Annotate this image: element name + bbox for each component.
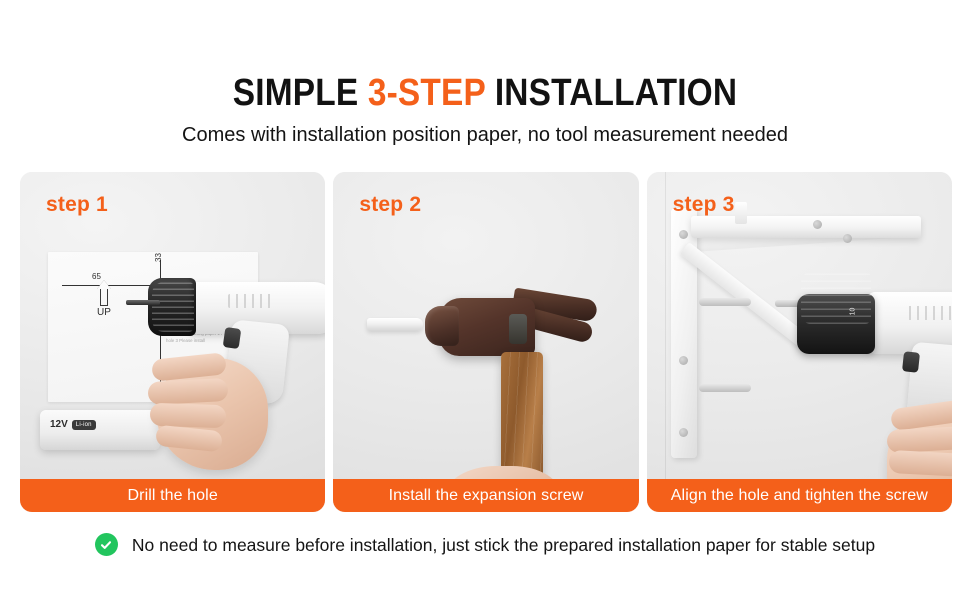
- wall-corner-edge: [665, 172, 666, 512]
- hand-holding-drill: [146, 340, 296, 490]
- step-3-caption: Align the hole and tighten the screw: [647, 479, 952, 512]
- title-accent: 3-STEP: [368, 72, 486, 114]
- step-3-photo: 10: [647, 172, 952, 512]
- hand-finger: [150, 403, 227, 429]
- step-3-label: step 3: [673, 193, 735, 217]
- hammer-face: [425, 306, 459, 346]
- bracket-top-arm: [691, 216, 921, 238]
- step-card-2: step 2 Install the expansion screw: [333, 172, 638, 512]
- paper-up-label: UP: [97, 307, 111, 318]
- step-2-photo: [333, 172, 638, 512]
- step-1-label: step 1: [46, 193, 108, 217]
- expansion-screw: [367, 318, 423, 331]
- hammer-collar: [509, 314, 527, 344]
- hand-finger: [147, 378, 228, 405]
- title-part-1: SIMPLE: [233, 72, 368, 114]
- page-subtitle: Comes with installation position paper, …: [0, 123, 970, 147]
- step-1-caption: Drill the hole: [20, 479, 325, 512]
- bracket-bolt: [679, 230, 688, 239]
- paper-dim-65: 65: [92, 272, 101, 281]
- step-2-caption: Install the expansion screw: [333, 479, 638, 512]
- bracket-bolt: [679, 428, 688, 437]
- battery-voltage: 12V: [50, 419, 68, 430]
- bracket-peg: [699, 298, 751, 306]
- battery-chemistry: Li-ion: [72, 420, 96, 430]
- bracket-bolt: [813, 220, 822, 229]
- step-card-1: 65 33 75 32 UP Please pre-paste the posi…: [20, 172, 325, 512]
- drill-battery: 12V Li-ion: [40, 410, 160, 450]
- bracket-peg: [699, 384, 751, 392]
- drill-vents: [228, 294, 274, 308]
- footer-note: No need to measure before installation, …: [0, 533, 970, 556]
- page-title: SIMPLE 3-STEP INSTALLATION: [58, 72, 912, 114]
- step-1-photo: 65 33 75 32 UP Please pre-paste the posi…: [20, 172, 325, 512]
- check-circle-icon: [95, 533, 118, 556]
- bracket-hook: [735, 202, 747, 224]
- footer-text: No need to measure before installation, …: [132, 534, 875, 556]
- installation-infographic: SIMPLE 3-STEP INSTALLATION Comes with in…: [0, 0, 970, 600]
- step-card-3: 10 step 3 Align the hole and tighten the…: [647, 172, 952, 512]
- bracket-bolt: [679, 356, 688, 365]
- drill-vents: [909, 306, 952, 320]
- hand-finger: [888, 450, 952, 477]
- title-part-2: INSTALLATION: [485, 72, 737, 114]
- battery-label: 12V Li-ion: [50, 419, 96, 430]
- hand-finger: [886, 426, 952, 453]
- drill-chuck-teeth: [801, 272, 871, 324]
- up-arrow-icon: [99, 288, 109, 297]
- steps-row: 65 33 75 32 UP Please pre-paste the posi…: [20, 172, 952, 512]
- header: SIMPLE 3-STEP INSTALLATION Comes with in…: [0, 72, 970, 147]
- step-2-label: step 2: [359, 193, 421, 217]
- drill-chuck-teeth: [152, 282, 194, 332]
- drill-trigger: [902, 351, 920, 373]
- drill-torque-dial-number: 10: [849, 308, 856, 316]
- bracket-bolt: [843, 234, 852, 243]
- paper-dim-33: 33: [154, 253, 163, 262]
- drill-bit: [126, 300, 160, 305]
